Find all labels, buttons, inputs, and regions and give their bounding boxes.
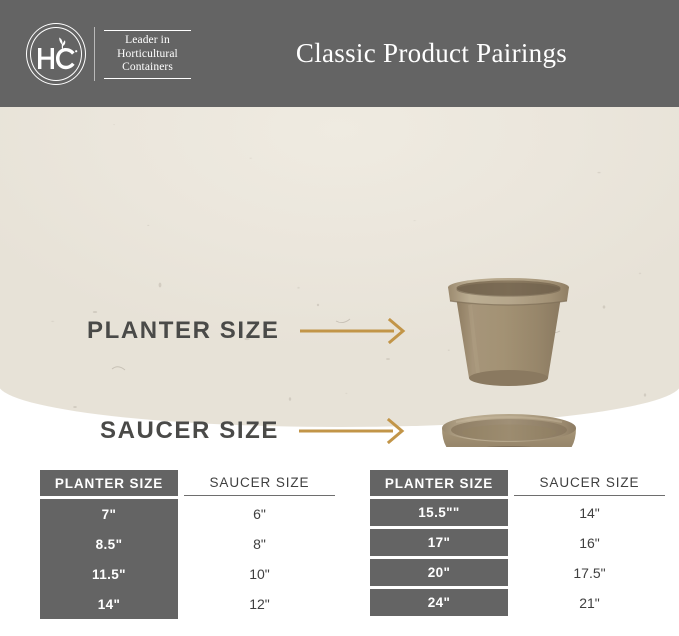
table-header-row: PLANTER SIZE SAUCER SIZE	[370, 470, 665, 496]
tagline-line-3: Containers	[104, 61, 191, 75]
cell-saucer-size: 10"	[184, 559, 335, 589]
hc-monogram-icon	[34, 31, 78, 77]
page-title: Classic Product Pairings	[200, 0, 679, 107]
product-pairings-infographic: Leader in Horticultural Containers Class…	[0, 0, 679, 636]
arrow-right-icon	[299, 418, 409, 444]
cell-planter-size: 17"	[370, 529, 508, 556]
table-row: 24" 21"	[370, 589, 665, 616]
cell-saucer-size: 8"	[184, 529, 335, 559]
cell-planter-size: 20"	[370, 559, 508, 586]
table-row: 17" 16"	[370, 529, 665, 556]
column-header-saucer: SAUCER SIZE	[514, 470, 665, 496]
table-header-row: PLANTER SIZE SAUCER SIZE	[40, 470, 335, 496]
hero-texture-specks	[0, 107, 679, 447]
table-row: 15.5"" 14"	[370, 499, 665, 526]
column-header-planter: PLANTER SIZE	[40, 470, 178, 496]
table-row: 7" 6"	[40, 499, 335, 529]
table-body: 15.5"" 14" 17" 16" 20" 17.5" 24"	[370, 499, 665, 616]
table-row: 8.5" 8"	[40, 529, 335, 559]
hero-section: PLANTER SIZE SAUCER SIZE	[0, 107, 679, 447]
table-row: 20" 17.5"	[370, 559, 665, 586]
table-row: 14" 12"	[40, 589, 335, 619]
cell-saucer-size: 6"	[184, 499, 335, 529]
callout-saucer-label: SAUCER SIZE	[100, 417, 279, 445]
tagline-line-2: Horticultural	[104, 48, 191, 62]
cell-saucer-size: 16"	[514, 529, 665, 556]
cell-saucer-size: 21"	[514, 589, 665, 616]
cell-planter-size: 15.5""	[370, 499, 508, 526]
size-chart-tables: PLANTER SIZE SAUCER SIZE 7" 6" 8.5" 8" 1…	[0, 470, 679, 636]
cell-saucer-size: 17.5"	[514, 559, 665, 586]
table-row: 11.5" 10"	[40, 559, 335, 589]
header-bar: Leader in Horticultural Containers Class…	[0, 0, 679, 107]
cell-saucer-size: 14"	[514, 499, 665, 526]
size-table-small: PLANTER SIZE SAUCER SIZE 7" 6" 8.5" 8" 1…	[40, 470, 335, 619]
brand-tagline: Leader in Horticultural Containers	[104, 29, 191, 79]
cell-planter-size: 11.5"	[40, 559, 178, 589]
arrow-right-icon	[300, 318, 410, 344]
logo-oval-mark	[26, 23, 86, 85]
size-table-large: PLANTER SIZE SAUCER SIZE 15.5"" 14" 17" …	[370, 470, 665, 619]
cell-planter-size: 14"	[40, 589, 178, 619]
cell-planter-size: 7"	[40, 499, 178, 529]
cell-planter-size: 24"	[370, 589, 508, 616]
callout-planter-size: PLANTER SIZE	[87, 317, 410, 345]
callout-planter-label: PLANTER SIZE	[87, 317, 280, 345]
table-body: 7" 6" 8.5" 8" 11.5" 10" 14" 12"	[40, 499, 335, 619]
column-header-planter: PLANTER SIZE	[370, 470, 508, 496]
logo-divider	[94, 27, 95, 81]
saucer-image	[438, 410, 580, 447]
callout-saucer-size: SAUCER SIZE	[100, 417, 409, 445]
column-header-saucer: SAUCER SIZE	[184, 470, 335, 496]
tagline-line-1: Leader in	[104, 34, 191, 48]
cell-planter-size: 8.5"	[40, 529, 178, 559]
brand-logo: Leader in Horticultural Containers	[26, 22, 191, 86]
tagline-rule-bottom	[104, 78, 191, 79]
cell-saucer-size: 12"	[184, 589, 335, 619]
planter-image	[440, 275, 577, 395]
